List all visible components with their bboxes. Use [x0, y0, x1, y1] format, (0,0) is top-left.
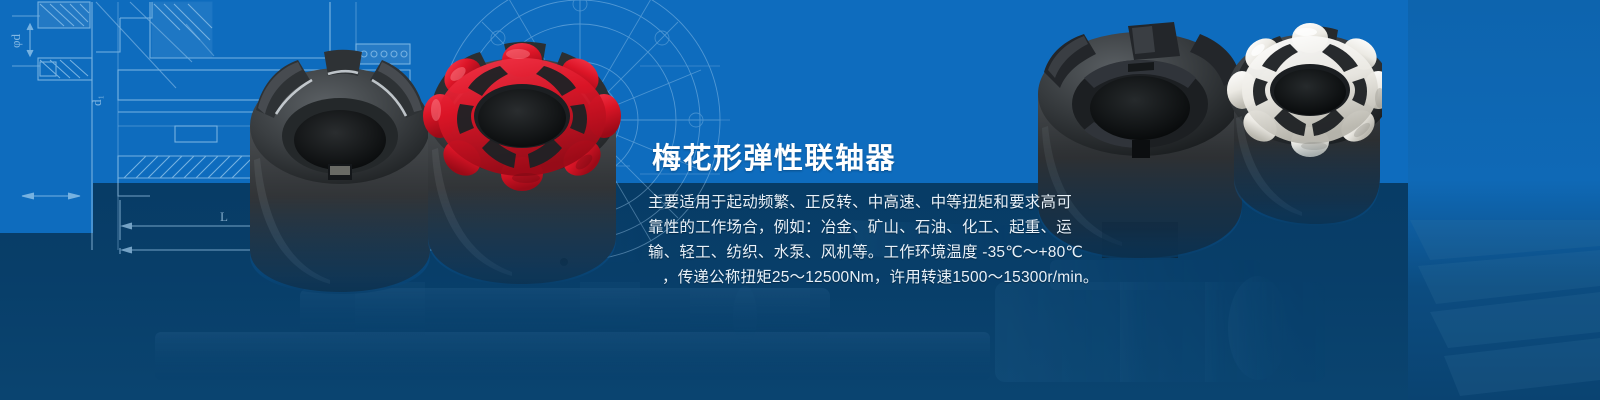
product-jaw-coupling-black	[250, 50, 430, 294]
banner-title: 梅花形弹性联轴器	[652, 145, 896, 174]
blueprint-label-phi-d: φd	[8, 33, 23, 48]
product-coupling-white-spider	[1227, 23, 1382, 226]
blueprint-label-d1: d₁	[89, 95, 104, 106]
description-line-2: 靠性的工作场合，例如：冶金、矿山、石油、化工、起重、运	[648, 215, 1052, 240]
description-line-3: 输、轻工、纺织、水泵、风机等。工作环境温度 -35℃～+80℃	[648, 240, 1052, 265]
banner-description: 主要适用于起动频繁、正反转、中高速、中等扭矩和要求高可 靠性的工作场合，例如：冶…	[648, 190, 1052, 290]
background-right-column	[1408, 0, 1600, 400]
banner-title-row: 梅花形弹性联轴器	[652, 139, 896, 179]
red-elastomer-spider	[423, 43, 621, 191]
product-banner: φd d₁ D L L₀ L	[0, 0, 1600, 400]
description-line-4: ，传递公称扭矩25～12500Nm，许用转速1500～15300r/min。	[648, 265, 1052, 290]
description-line-1: 主要适用于起动频繁、正反转、中高速、中等扭矩和要求高可	[648, 190, 1052, 215]
product-jaw-coupling-red-spider	[423, 42, 621, 286]
product-photo-group-left	[232, 18, 632, 308]
blueprint-label-L-1: L	[220, 209, 228, 224]
